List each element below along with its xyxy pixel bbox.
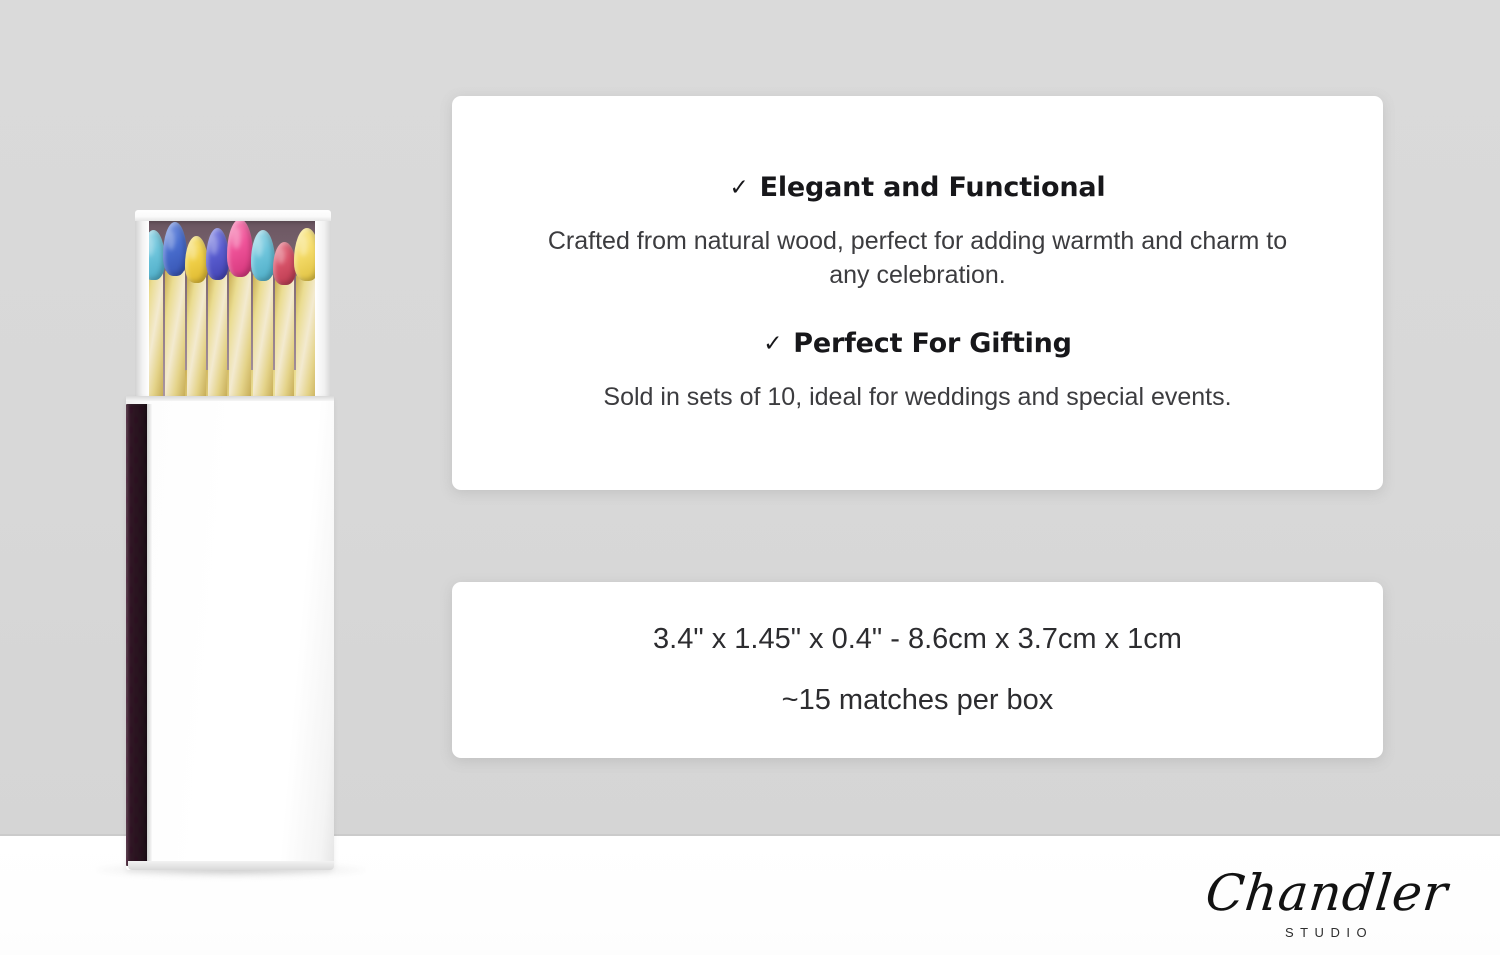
feature-heading-1-label: Elegant and Functional [760,172,1106,203]
matchstick-group [146,222,322,408]
match-head-pink [227,219,253,277]
check-icon: ✓ [763,333,782,356]
brand-name: Chandler [1203,868,1450,918]
match-head-blue [163,222,187,276]
match-head-red [273,242,296,285]
match-stick [165,222,185,408]
match-head-teal [251,230,275,281]
feature-heading-2-label: Perfect For Gifting [793,328,1071,359]
check-icon: ✓ [730,177,749,200]
match-stick [253,230,273,408]
features-card: ✓ Elegant and Functional Crafted from na… [452,96,1383,490]
match-head-indigo [206,228,229,280]
match-stick [275,242,294,408]
feature-heading-1: ✓ Elegant and Functional [730,172,1106,203]
dimensions-card: 3.4" x 1.45" x 0.4" - 8.6cm x 3.7cm x 1c… [452,582,1383,758]
feature-body-2: Sold in sets of 10, ideal for weddings a… [603,380,1231,414]
matchbox-strike-strip [126,404,148,866]
product-size-line: 3.4" x 1.45" x 0.4" - 8.6cm x 3.7cm x 1c… [653,622,1182,657]
match-head-yellow [185,236,208,283]
match-stick [208,228,227,408]
match-stick [187,236,206,408]
brand-tagline: STUDIO [1285,925,1373,940]
matchbox-sleeve-top-edge [126,396,334,401]
product-count-line: ~15 matches per box [782,683,1054,718]
brand-logo: Chandler STUDIO [1196,868,1458,946]
matchbox-sleeve-bottom-edge [128,861,334,870]
matchbox-tray-top-edge [135,210,331,221]
product-image-matchbox [110,200,342,880]
match-stick [229,219,251,408]
matchbox-sleeve [126,396,334,870]
infographic-canvas: ✓ Elegant and Functional Crafted from na… [0,0,1500,955]
matchbox-strike-strip-edge [147,404,152,866]
feature-heading-2: ✓ Perfect For Gifting [763,328,1072,359]
feature-body-1: Crafted from natural wood, perfect for a… [538,224,1298,292]
